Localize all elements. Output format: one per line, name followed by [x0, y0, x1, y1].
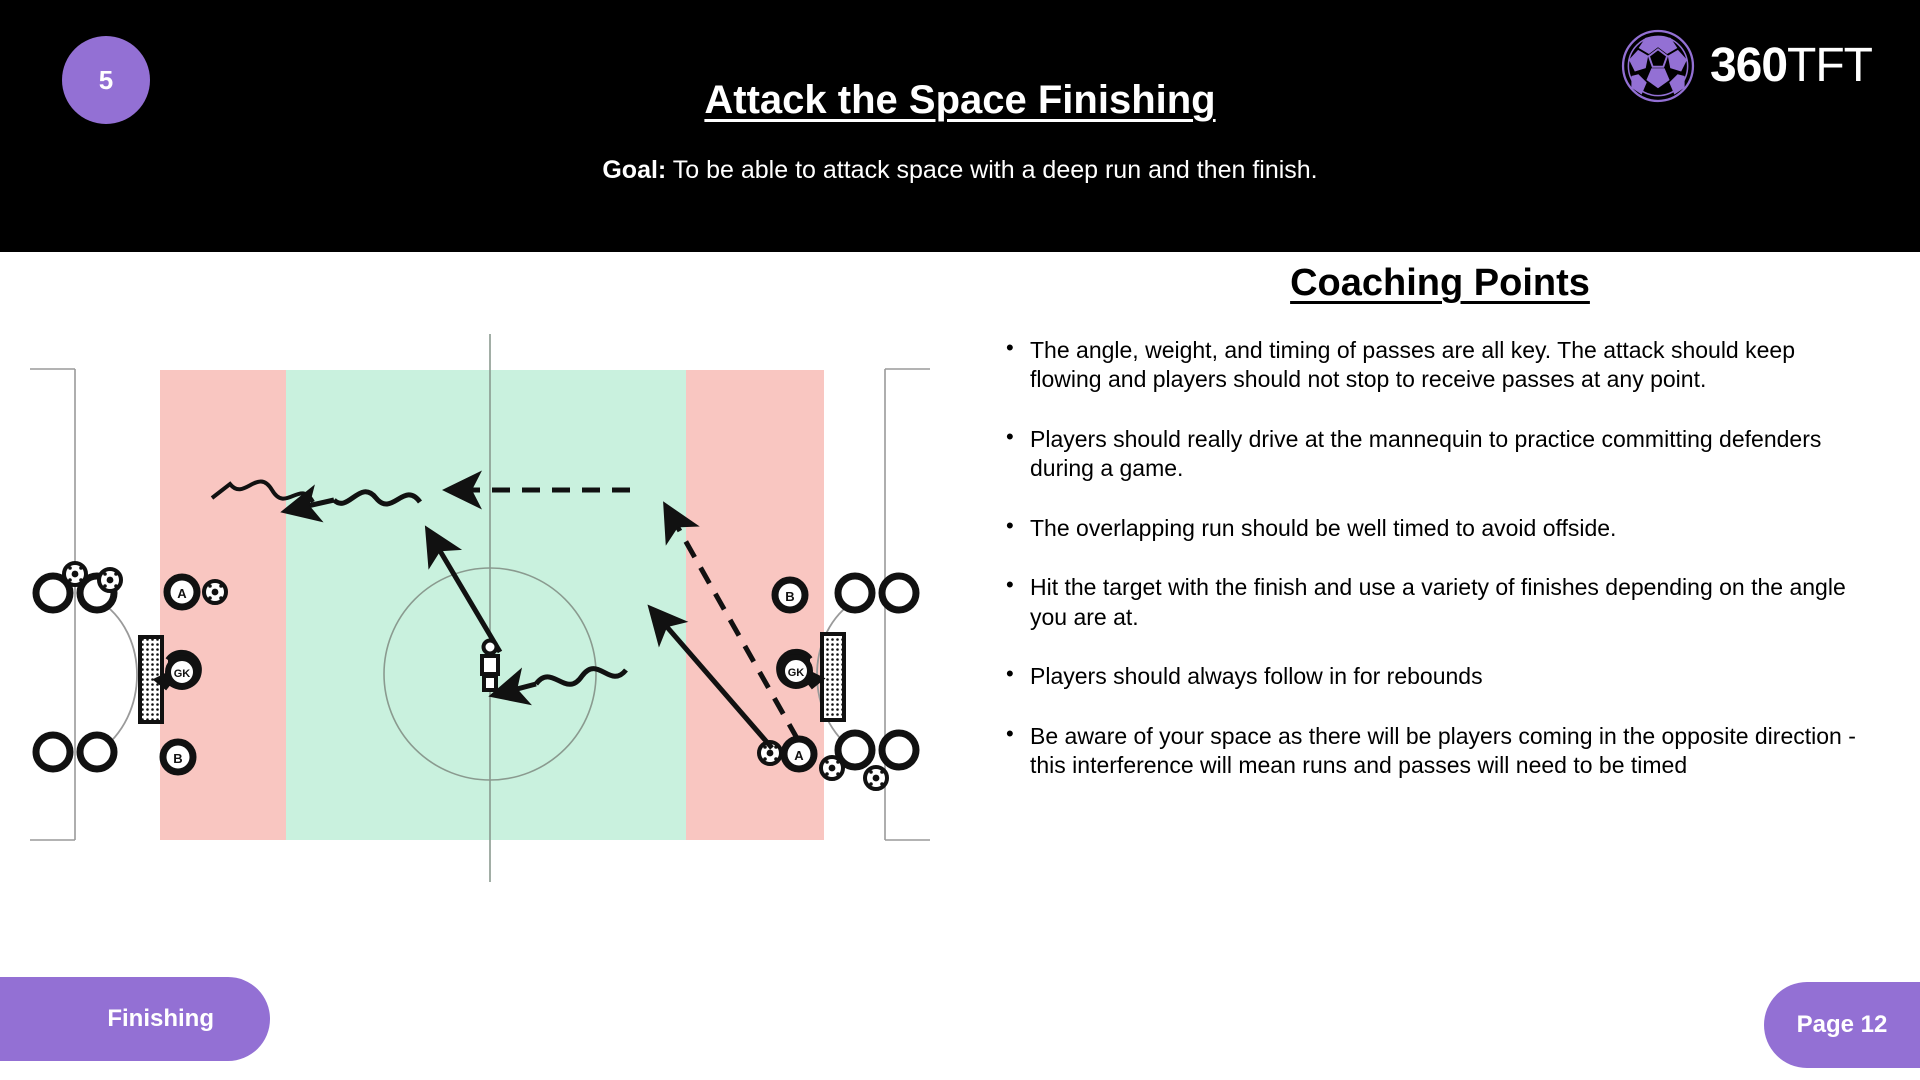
slide-root: 5 Attack the Space Finishing Goal: To be…	[0, 0, 1920, 1080]
ball-icon	[99, 569, 121, 591]
mannequin-icon	[482, 641, 498, 691]
list-item: Players should always follow in for rebo…	[988, 662, 1868, 691]
coaching-points-list: The angle, weight, and timing of passes …	[988, 336, 1868, 810]
list-item: Players should really drive at the manne…	[988, 425, 1868, 484]
page-number-label: Page 12	[1797, 1011, 1888, 1039]
zone-middle	[286, 370, 686, 840]
svg-text:B: B	[173, 751, 182, 766]
list-item: The angle, weight, and timing of passes …	[988, 336, 1868, 395]
svg-text:A: A	[177, 586, 187, 601]
slide-header: 5 Attack the Space Finishing Goal: To be…	[0, 0, 1920, 252]
svg-text:GK: GK	[174, 668, 191, 680]
goal-label: Goal:	[602, 156, 666, 184]
ball-icon	[865, 767, 887, 789]
brand-360: 360	[1710, 39, 1787, 92]
slide-number-badge: 5	[62, 36, 150, 124]
session-goal: Goal: To be able to attack space with a …	[360, 155, 1560, 186]
session-topic-pill: Finishing	[0, 977, 270, 1061]
queue-marker	[882, 733, 916, 767]
session-topic-label: Finishing	[107, 1005, 214, 1033]
coaching-points-title: Coaching Points	[960, 262, 1920, 305]
queue-marker	[36, 735, 70, 769]
ball-icon	[64, 563, 86, 585]
player-A-right: A	[784, 739, 814, 769]
player-B-right: B	[775, 580, 805, 610]
svg-text:B: B	[785, 589, 794, 604]
soccer-ball-icon	[1620, 28, 1696, 104]
page-title: Attack the Space Finishing	[360, 78, 1560, 123]
ball-icon	[204, 581, 226, 603]
slide-number-text: 5	[99, 65, 113, 96]
list-item: Be aware of your space as there will be …	[988, 722, 1868, 781]
queue-marker	[882, 576, 916, 610]
player-B-left: B	[163, 742, 193, 772]
brand-tft: TFT	[1787, 39, 1872, 92]
right-goal	[822, 634, 844, 720]
brand-wordmark: 360TFT	[1710, 42, 1872, 90]
queue-marker	[80, 735, 114, 769]
page-number-pill: Page 12	[1764, 982, 1920, 1068]
coaching-points-panel: Coaching Points The angle, weight, and t…	[960, 252, 1920, 972]
queue-marker	[838, 576, 872, 610]
penalty-arc-left	[98, 600, 137, 752]
list-item: Hit the target with the finish and use a…	[988, 573, 1868, 632]
player-A-left: A	[167, 577, 197, 607]
svg-text:A: A	[794, 748, 804, 763]
goal-text: To be able to attack space with a deep r…	[666, 156, 1317, 184]
list-item: The overlapping run should be well timed…	[988, 514, 1868, 543]
ball-icon	[821, 757, 843, 779]
pitch-svg: A GK B B GK A	[0, 252, 960, 972]
pitch-diagram: A GK B B GK A	[0, 252, 960, 972]
svg-text:GK: GK	[788, 667, 805, 679]
brand-logo: 360TFT	[1620, 26, 1872, 106]
